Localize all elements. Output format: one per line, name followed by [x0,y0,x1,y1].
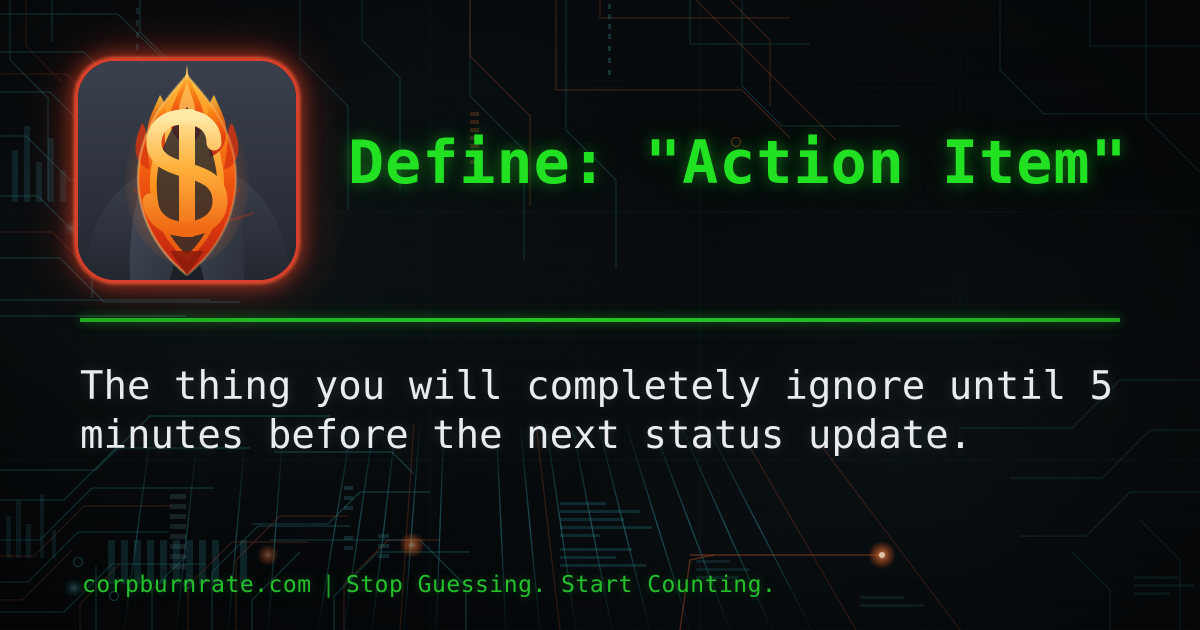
footer: corpburnrate.com | Stop Guessing. Start … [82,572,776,598]
punchline-text: The thing you will completely ignore unt… [80,362,1150,460]
footer-separator: | [312,572,346,598]
brand-logo [75,58,299,283]
footer-tagline: Stop Guessing. Start Counting. [346,572,776,598]
section-divider [80,318,1120,322]
social-card: Define: "Action Item" The thing you will… [0,0,1200,630]
page-title: Define: "Action Item" [348,108,1168,218]
flaming-dollar-shield-icon [78,61,296,280]
footer-site-url[interactable]: corpburnrate.com [82,572,312,598]
